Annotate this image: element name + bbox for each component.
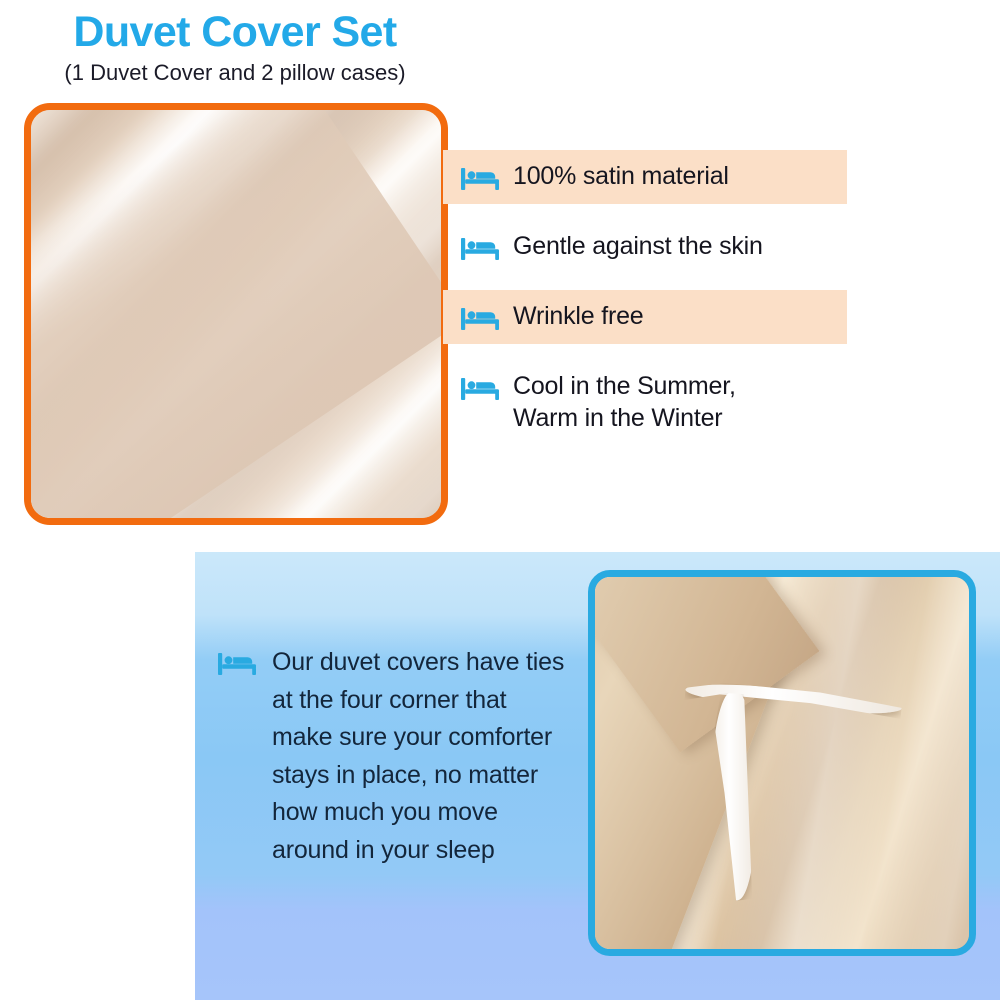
feature-label: Cool in the Summer, Warm in the Winter [513, 370, 736, 434]
feature-label: Gentle against the skin [513, 230, 763, 262]
feature-item-satin-material: 100% satin material [443, 150, 847, 204]
feature-label: 100% satin material [513, 160, 729, 192]
page-subtitle: (1 Duvet Cover and 2 pillow cases) [0, 61, 470, 85]
bed-icon [461, 306, 503, 332]
duvet-tie-photo [588, 570, 976, 956]
feature-spacer [443, 204, 847, 220]
bed-icon [461, 376, 503, 402]
bed-icon [461, 236, 503, 262]
feature-label: Wrinkle free [513, 300, 644, 332]
satin-fabric-photo [24, 103, 448, 525]
feature-item-temperature: Cool in the Summer, Warm in the Winter [443, 360, 847, 444]
bed-icon [461, 166, 503, 192]
feature-item-wrinkle-free: Wrinkle free [443, 290, 847, 344]
header-block: Duvet Cover Set (1 Duvet Cover and 2 pil… [0, 10, 470, 85]
tie-description-block: Our duvet covers have ties at the four c… [218, 644, 578, 869]
feature-item-gentle-skin: Gentle against the skin [443, 220, 847, 274]
page-title: Duvet Cover Set [0, 10, 470, 55]
feature-spacer [443, 274, 847, 290]
tie-description-text: Our duvet covers have ties at the four c… [272, 644, 572, 869]
bed-icon [218, 651, 260, 677]
feature-list: 100% satin material Gentle against the s… [443, 150, 847, 444]
feature-spacer [443, 344, 847, 360]
